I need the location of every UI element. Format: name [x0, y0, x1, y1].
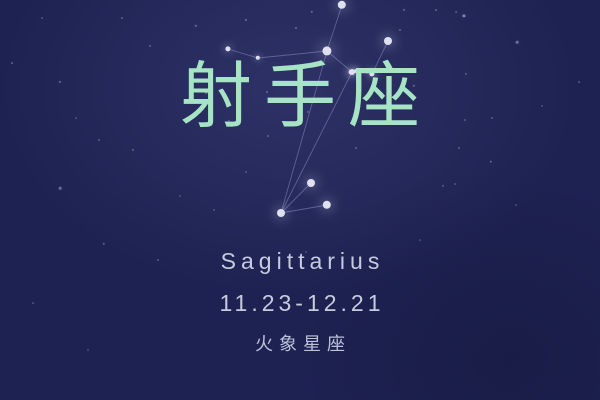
- zodiac-element-label: 火象星座: [0, 336, 600, 354]
- zodiac-date-range: 11.23-12.21: [0, 292, 600, 315]
- zodiac-poster: 射手座 Sagittarius 11.23-12.21 火象星座: [0, 0, 600, 400]
- page-title: 射手座: [0, 60, 600, 132]
- zodiac-latin-name: Sagittarius: [0, 250, 600, 273]
- poster-text-stack: 射手座 Sagittarius 11.23-12.21 火象星座: [0, 0, 600, 400]
